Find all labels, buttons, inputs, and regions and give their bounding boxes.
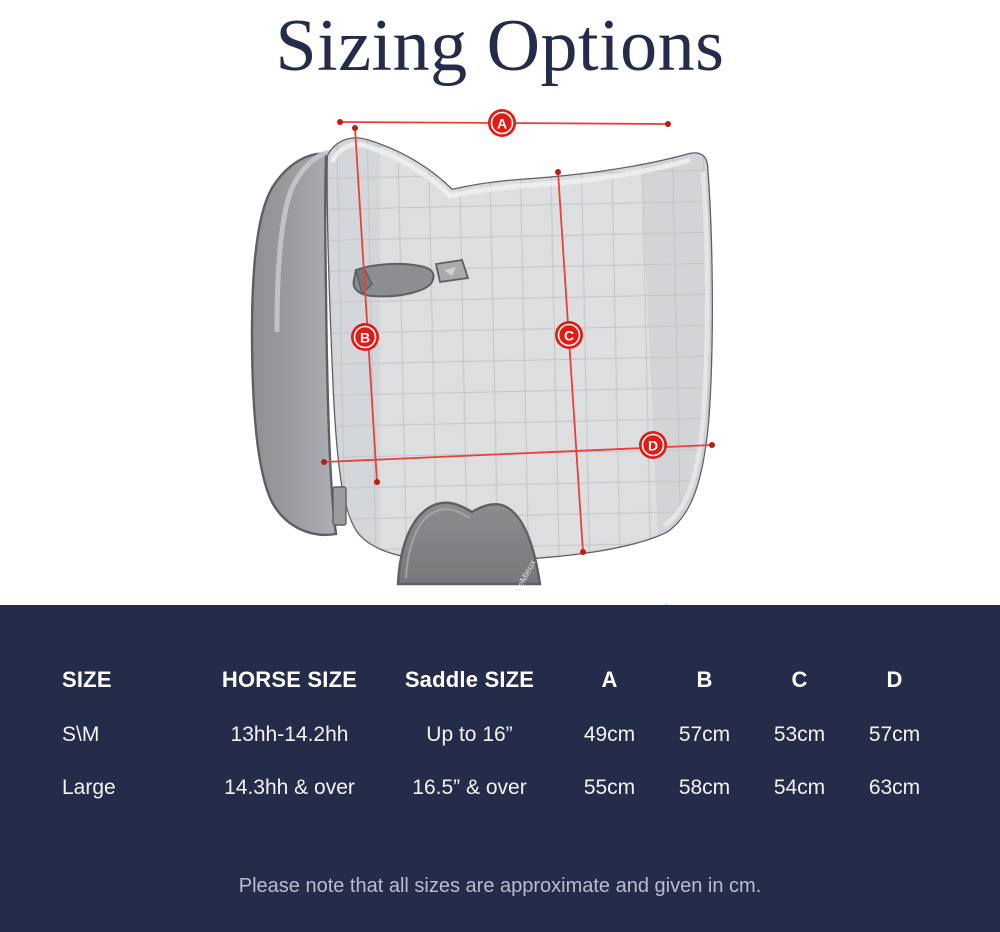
pad-body <box>320 132 740 582</box>
cell-measurement-b: 58cm <box>657 776 752 829</box>
cell-measurement-c: 53cm <box>752 723 847 776</box>
cell-measurement-d: 57cm <box>847 723 942 776</box>
cell-size: S\M <box>62 723 202 776</box>
column-header-c: C <box>752 667 847 723</box>
sizing-options-page: Sizing Options <box>0 0 1000 932</box>
saddle-pad-diagram: LeMieux A <box>0 92 1000 605</box>
saddle-pad-illustration: LeMieux A <box>0 92 1000 605</box>
measure-marker-c: C <box>555 321 583 349</box>
cell-measurement-b: 57cm <box>657 723 752 776</box>
table-row: S\M 13hh-14.2hh Up to 16” 49cm 57cm 53cm… <box>62 723 942 776</box>
page-title: Sizing Options <box>276 9 725 83</box>
column-header-a: A <box>562 667 657 723</box>
wither-logo-tab <box>436 260 468 282</box>
column-header-size: SIZE <box>62 667 202 723</box>
sizing-info-panel: SIZE HORSE SIZE Saddle SIZE A B C D S\M … <box>0 605 1000 932</box>
cell-saddle-size: Up to 16” <box>377 723 562 776</box>
cell-measurement-a: 49cm <box>562 723 657 776</box>
measure-marker-a: A <box>488 109 516 137</box>
pad-side-panel <box>252 152 336 535</box>
page-title-area: Sizing Options <box>0 0 1000 92</box>
sizing-table: SIZE HORSE SIZE Saddle SIZE A B C D S\M … <box>62 667 942 829</box>
column-header-b: B <box>657 667 752 723</box>
column-header-horse-size: HORSE SIZE <box>202 667 377 723</box>
cell-horse-size: 14.3hh & over <box>202 776 377 829</box>
marker-label-a: A <box>497 116 507 132</box>
measure-marker-b: B <box>351 323 379 351</box>
cell-measurement-c: 54cm <box>752 776 847 829</box>
table-header-row: SIZE HORSE SIZE Saddle SIZE A B C D <box>62 667 942 723</box>
cell-size: Large <box>62 776 202 829</box>
sizing-footnote: Please note that all sizes are approxima… <box>0 875 1000 898</box>
cell-measurement-a: 55cm <box>562 776 657 829</box>
table-row: Large 14.3hh & over 16.5” & over 55cm 58… <box>62 776 942 829</box>
cell-horse-size: 13hh-14.2hh <box>202 723 377 776</box>
marker-label-c: C <box>564 328 574 344</box>
column-header-d: D <box>847 667 942 723</box>
column-header-saddle-size: Saddle SIZE <box>377 667 562 723</box>
marker-label-d: D <box>648 438 658 454</box>
measure-marker-d: D <box>639 431 667 459</box>
marker-label-b: B <box>360 330 370 346</box>
cell-measurement-d: 63cm <box>847 776 942 829</box>
side-label-tab <box>333 487 346 525</box>
cell-saddle-size: 16.5” & over <box>377 776 562 829</box>
